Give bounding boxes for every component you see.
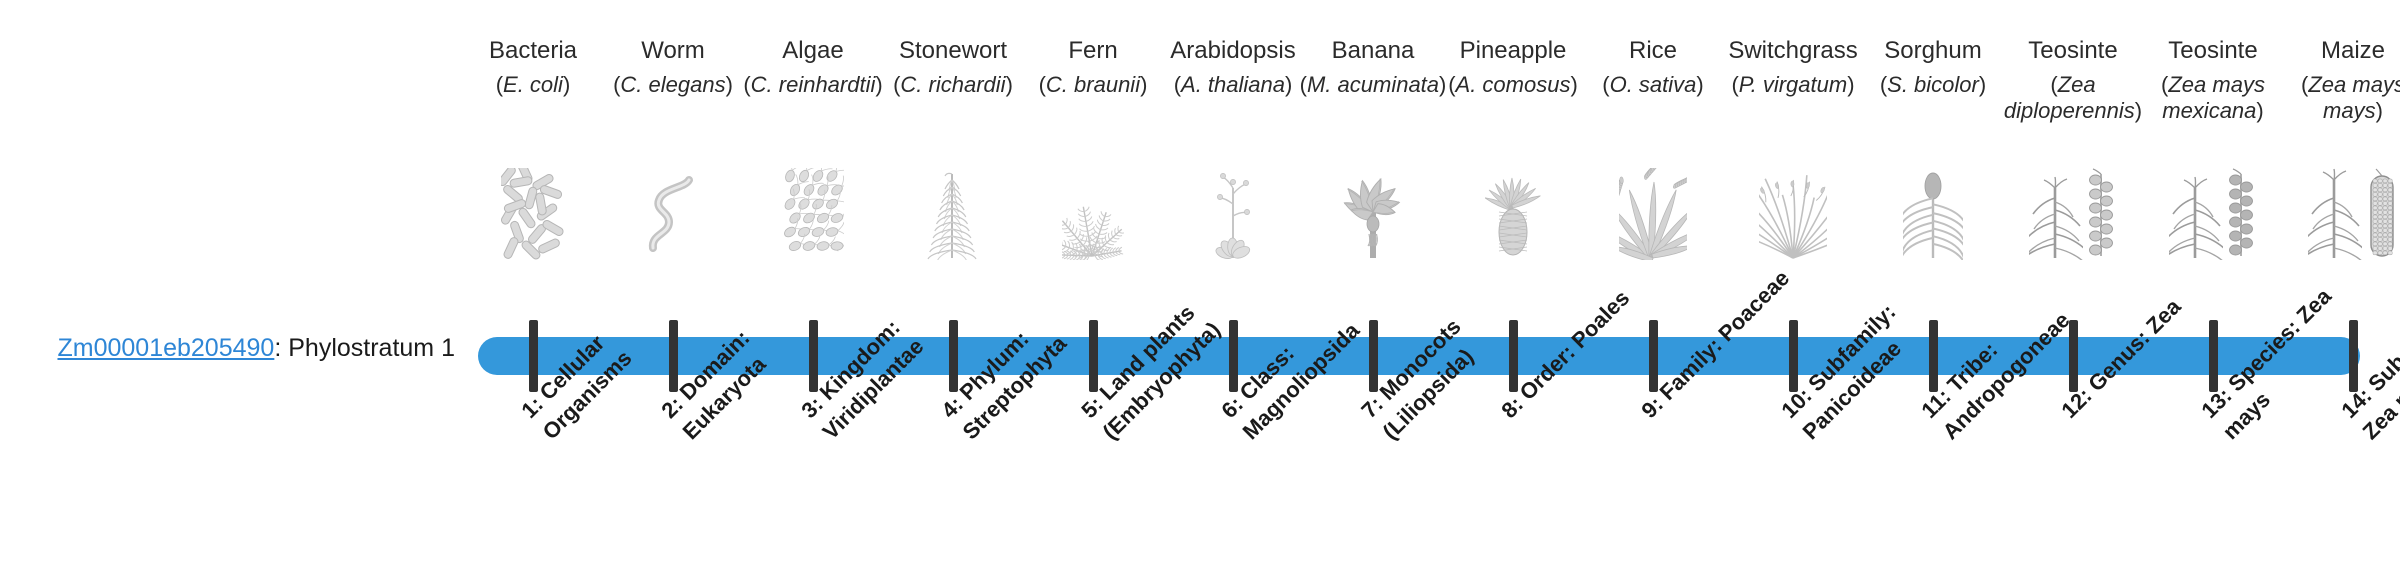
species-header-8: Pineapple(A. comosus) xyxy=(1437,36,1589,98)
teosinte-plant-and-ear-illustration xyxy=(2003,168,2143,260)
species-header-14: Maize(Zea mays mays) xyxy=(2277,36,2400,124)
species-header-7: Banana(M. acuminata) xyxy=(1297,36,1449,98)
pineapple-plant-illustration xyxy=(1443,168,1583,260)
bacteria-rods-illustration xyxy=(463,168,603,260)
phylostratum-value: Phylostratum 1 xyxy=(288,334,455,362)
species-scientific-name: (S. bicolor) xyxy=(1857,72,2009,98)
species-common-name: Fern xyxy=(1017,36,1169,66)
species-header-6: Arabidopsis(A. thaliana) xyxy=(1157,36,1309,98)
arabidopsis-plant-illustration xyxy=(1163,168,1303,260)
species-header-10: Switchgrass(P. virgatum) xyxy=(1717,36,1869,98)
species-scientific-name: (C. braunii) xyxy=(1017,72,1169,98)
species-scientific-name: (Zea diploperennis) xyxy=(1997,72,2149,124)
species-column-10: Switchgrass(P. virgatum) xyxy=(1723,0,1863,580)
species-column-1: Bacteria(E. coli) xyxy=(463,0,603,580)
gene-id-link[interactable]: Zm00001eb205490 xyxy=(57,334,274,362)
phylostratigraphy-figure: Zm00001eb205490: Phylostratum 1 Bacteria… xyxy=(0,0,2400,580)
maize-plant-and-cob-illustration xyxy=(2283,168,2400,260)
species-scientific-name: (P. virgatum) xyxy=(1717,72,1869,98)
species-column-13: Teosinte(Zea mays mexicana) xyxy=(2143,0,2283,580)
species-common-name: Pineapple xyxy=(1437,36,1589,66)
species-header-11: Sorghum(S. bicolor) xyxy=(1857,36,2009,98)
nematode-worm-illustration xyxy=(603,168,743,260)
switchgrass-plant-illustration xyxy=(1723,168,1863,260)
gene-phylostratum-label: Zm00001eb205490: Phylostratum 1 xyxy=(0,332,455,364)
species-scientific-name: (A. thaliana) xyxy=(1157,72,1309,98)
species-common-name: Teosinte xyxy=(2137,36,2289,66)
green-algae-cells-illustration xyxy=(743,168,883,260)
fern-frond-illustration xyxy=(1023,168,1163,260)
species-common-name: Arabidopsis xyxy=(1157,36,1309,66)
species-header-3: Algae(C. reinhardtii) xyxy=(737,36,889,98)
species-scientific-name: (A. comosus) xyxy=(1437,72,1589,98)
species-common-name: Banana xyxy=(1297,36,1449,66)
species-common-name: Rice xyxy=(1577,36,1729,66)
stonewort-alga-illustration xyxy=(883,168,1023,260)
species-scientific-name: (C. richardii) xyxy=(877,72,1029,98)
species-header-9: Rice(O. sativa) xyxy=(1577,36,1729,98)
species-common-name: Bacteria xyxy=(457,36,609,66)
species-scientific-name: (E. coli) xyxy=(457,72,609,98)
species-scientific-name: (C. reinhardtii) xyxy=(737,72,889,98)
species-common-name: Teosinte xyxy=(1997,36,2149,66)
species-scientific-name: (Zea mays mexicana) xyxy=(2137,72,2289,124)
banana-plant-illustration xyxy=(1303,168,1443,260)
species-scientific-name: (O. sativa) xyxy=(1577,72,1729,98)
species-scientific-name: (M. acuminata) xyxy=(1297,72,1449,98)
species-header-2: Worm(C. elegans) xyxy=(597,36,749,98)
rice-plant-illustration xyxy=(1583,168,1723,260)
species-header-1: Bacteria(E. coli) xyxy=(457,36,609,98)
species-common-name: Switchgrass xyxy=(1717,36,1869,66)
species-header-13: Teosinte(Zea mays mexicana) xyxy=(2137,36,2289,124)
species-header-4: Stonewort(C. richardii) xyxy=(877,36,1029,98)
species-scientific-name: (Zea mays mays) xyxy=(2277,72,2400,124)
species-header-12: Teosinte(Zea diploperennis) xyxy=(1997,36,2149,124)
species-common-name: Worm xyxy=(597,36,749,66)
label-separator: : xyxy=(274,334,288,362)
species-common-name: Sorghum xyxy=(1857,36,2009,66)
species-common-name: Algae xyxy=(737,36,889,66)
species-scientific-name: (C. elegans) xyxy=(597,72,749,98)
species-common-name: Stonewort xyxy=(877,36,1029,66)
species-header-5: Fern(C. braunii) xyxy=(1017,36,1169,98)
species-common-name: Maize xyxy=(2277,36,2400,66)
teosinte-mexicana-plant-and-ear-illustration xyxy=(2143,168,2283,260)
species-column-9: Rice(O. sativa) xyxy=(1583,0,1723,580)
sorghum-plant-illustration xyxy=(1863,168,2003,260)
